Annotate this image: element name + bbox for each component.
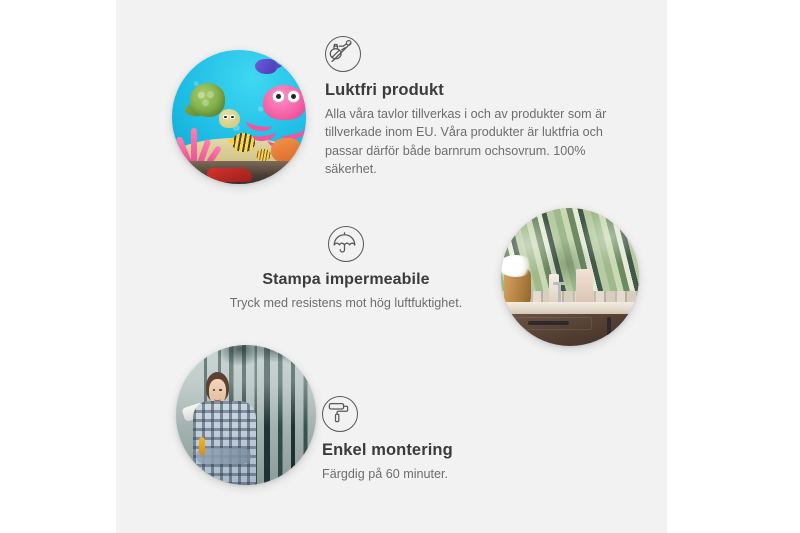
forest-scene bbox=[176, 345, 316, 485]
cabinet-handle bbox=[607, 317, 611, 336]
drawer-handle bbox=[528, 321, 569, 325]
octopus-eye-left bbox=[272, 90, 285, 102]
turtle-eye-left bbox=[223, 115, 228, 120]
painter-eye-left bbox=[213, 389, 215, 391]
paint-roller-grip bbox=[199, 437, 205, 455]
feature-icon-row bbox=[212, 226, 480, 262]
yellow-fish bbox=[232, 133, 255, 152]
feature-title-odourless: Luktfri produkt bbox=[325, 81, 625, 100]
turtle-eye-right bbox=[230, 115, 235, 120]
pink-coral bbox=[179, 125, 225, 165]
feature-title-assembly: Enkel montering bbox=[322, 441, 552, 460]
bathroom-scene bbox=[501, 208, 639, 346]
feature-body-waterproof: Tryck med resistens mot hög luftfuktighe… bbox=[212, 294, 480, 312]
painter-eye-right bbox=[219, 389, 221, 391]
faucet bbox=[558, 285, 561, 303]
feature-icon-row bbox=[325, 36, 625, 72]
towel bbox=[576, 269, 594, 305]
umbrella-icon bbox=[328, 226, 364, 262]
painter-person bbox=[187, 370, 260, 485]
blue-fish bbox=[255, 59, 276, 74]
feature-block-waterproof: Stampa impermeabile Tryck med resistens … bbox=[212, 226, 480, 312]
no-perfume-spray-icon bbox=[325, 36, 361, 72]
octopus-eye-right bbox=[287, 90, 300, 102]
orange-coral bbox=[271, 138, 300, 162]
octopus-head bbox=[263, 85, 306, 120]
feature-title-waterproof: Stampa impermeabile bbox=[212, 271, 480, 289]
coral-branch bbox=[191, 128, 197, 165]
wooden-vanity bbox=[509, 314, 639, 346]
feature-body-odourless: Alla våra tavlor tillverkas i och av pro… bbox=[325, 105, 625, 178]
feature-image-bathroom-botanical-wallpaper[interactable] bbox=[501, 208, 639, 346]
feature-icon-row bbox=[322, 396, 552, 432]
paint-roller-icon bbox=[322, 396, 358, 432]
feature-image-painter-forest-mural[interactable] bbox=[176, 345, 316, 485]
foreground-shelf bbox=[172, 161, 306, 184]
sea-scene bbox=[172, 50, 306, 184]
promo-banner: Luktfri produkt Alla våra tavlor tillver… bbox=[0, 0, 800, 533]
feature-body-assembly: Färgdig på 60 minuter. bbox=[322, 465, 552, 483]
feature-block-odourless: Luktfri produkt Alla våra tavlor tillver… bbox=[325, 36, 625, 178]
cabinet-handle bbox=[628, 317, 632, 336]
turtle-illustration bbox=[187, 82, 241, 129]
feature-block-assembly: Enkel montering Färgdig på 60 minuter. bbox=[322, 396, 552, 483]
feature-image-underwater-sea-life-wall-mural[interactable] bbox=[172, 50, 306, 184]
